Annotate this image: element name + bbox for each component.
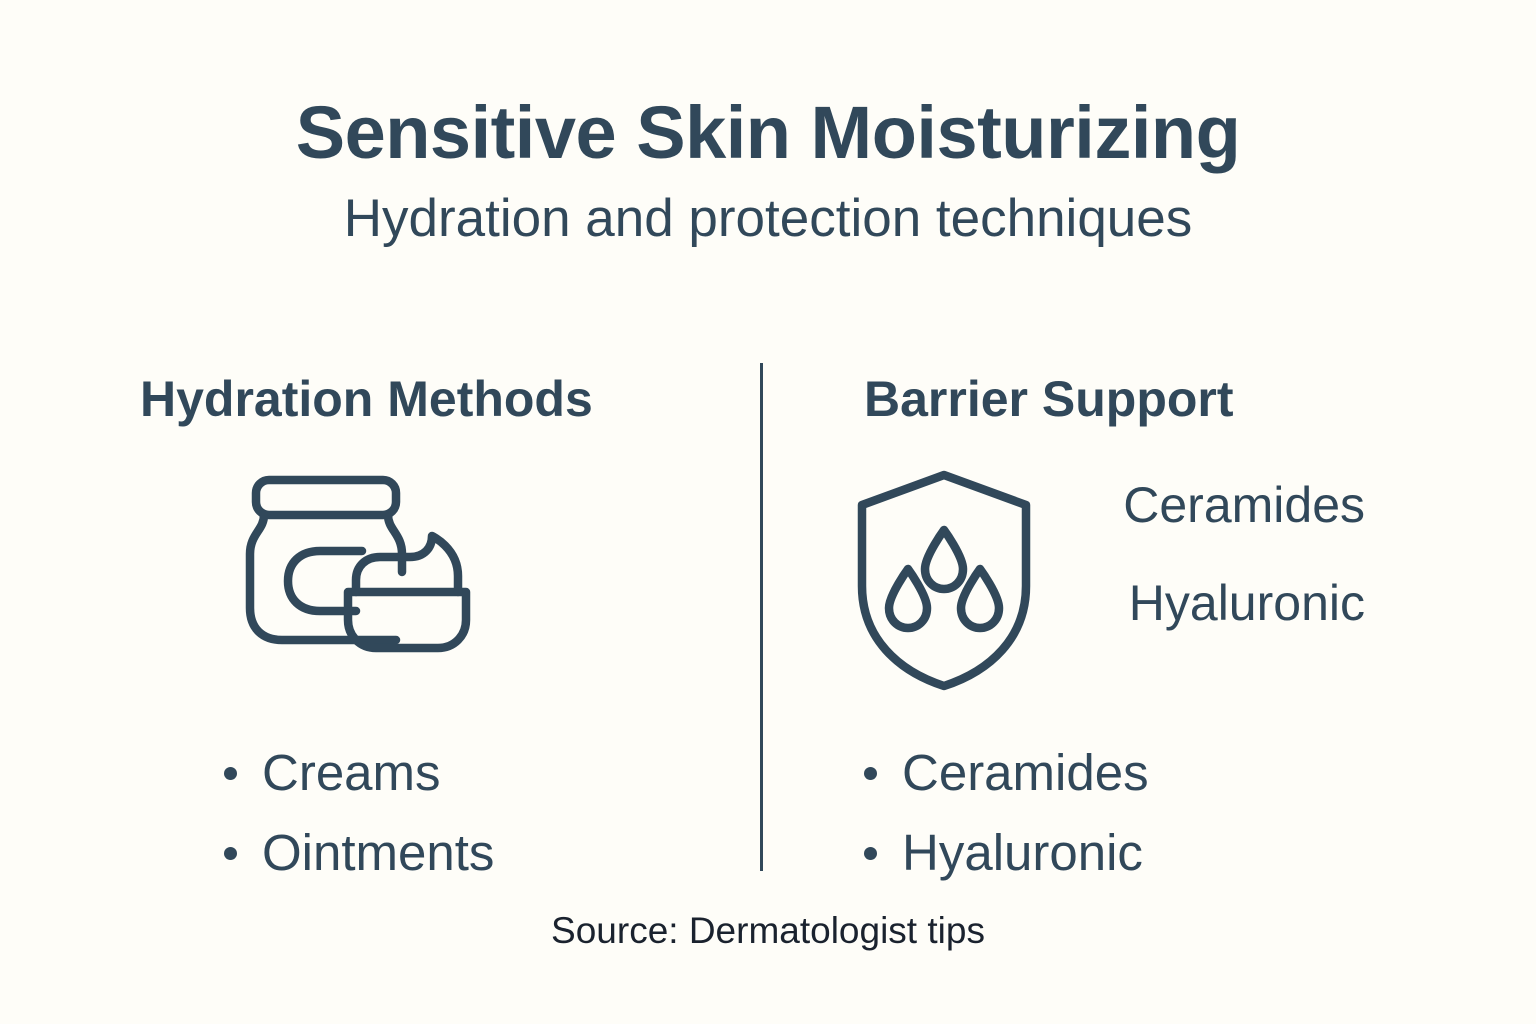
source-note: Source: Dermatologist tips bbox=[0, 912, 1536, 949]
column-hydration-methods: Hydration Methods bbox=[96, 360, 736, 880]
column-divider bbox=[760, 363, 763, 871]
page-subtitle: Hydration and protection techniques bbox=[0, 192, 1536, 245]
bullet-label: Creams bbox=[262, 747, 441, 798]
bullet-list-left: Creams Ointments bbox=[224, 732, 494, 892]
icon-row-right: Ceramides Hyaluronic bbox=[800, 460, 1440, 700]
column-heading-left: Hydration Methods bbox=[140, 374, 593, 424]
column-heading-right: Barrier Support bbox=[864, 374, 1234, 424]
bullet-label: Ceramides bbox=[902, 747, 1149, 798]
bullet-label: Ointments bbox=[262, 827, 494, 878]
page-title: Sensitive Skin Moisturizing bbox=[0, 96, 1536, 170]
shield-droplets-icon bbox=[854, 468, 1034, 693]
infographic-canvas: Sensitive Skin Moisturizing Hydration an… bbox=[0, 0, 1536, 1024]
list-item: Ceramides bbox=[864, 732, 1149, 812]
cream-jar-icon bbox=[244, 468, 474, 698]
bullet-list-right: Ceramides Hyaluronic bbox=[864, 732, 1149, 892]
bullet-dot-icon bbox=[224, 767, 237, 780]
header: Sensitive Skin Moisturizing Hydration an… bbox=[0, 96, 1536, 245]
column-barrier-support: Barrier Support Ceramides bbox=[800, 360, 1440, 880]
bullet-label: Hyaluronic bbox=[902, 827, 1143, 878]
icon-label-group: Ceramides Hyaluronic bbox=[1040, 480, 1365, 628]
list-item: Hyaluronic bbox=[864, 812, 1149, 892]
bullet-dot-icon bbox=[864, 847, 877, 860]
icon-label-hyaluronic: Hyaluronic bbox=[1040, 578, 1365, 628]
list-item: Creams bbox=[224, 732, 494, 812]
icon-row-left bbox=[96, 460, 736, 700]
bullet-dot-icon bbox=[864, 767, 877, 780]
columns-container: Hydration Methods bbox=[0, 360, 1536, 880]
list-item: Ointments bbox=[224, 812, 494, 892]
icon-label-ceramides: Ceramides bbox=[1040, 480, 1365, 530]
bullet-dot-icon bbox=[224, 847, 237, 860]
